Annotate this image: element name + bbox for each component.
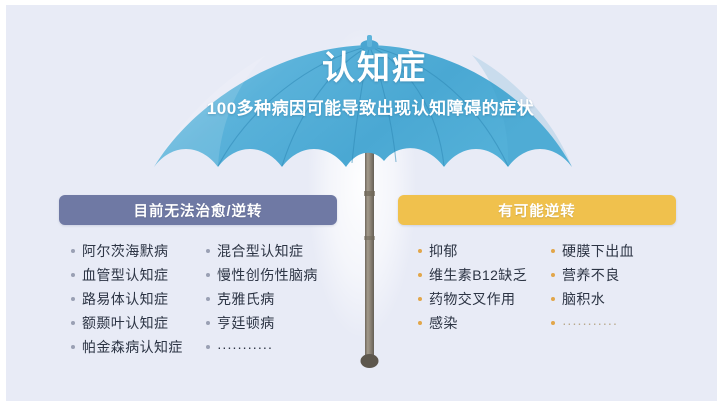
bullet-dot-icon	[418, 321, 422, 325]
list-item-label: ···········	[562, 315, 618, 331]
bullet-dot-icon	[418, 249, 422, 253]
bullet-dot-icon	[206, 345, 210, 349]
list-item-label: 路易体认知症	[82, 289, 168, 309]
list-item: 帕金森病认知症	[71, 335, 198, 359]
bullet-dot-icon	[206, 321, 210, 325]
umbrella-canopy	[154, 35, 572, 167]
list-item-ellipsis: ···········	[551, 311, 676, 335]
panel-body-irreversible: 阿尔茨海默病 血管型认知症 路易体认知症 额颞叶认知症	[59, 239, 337, 359]
panel-irreversible: 目前无法治愈/逆转 阿尔茨海默病 血管型认知症	[59, 195, 337, 359]
bullet-dot-icon	[418, 273, 422, 277]
list-item: 亨廷顿病	[206, 311, 337, 335]
list-item-label: 额颞叶认知症	[82, 313, 168, 333]
list-item: 维生素B12缺乏	[418, 263, 537, 287]
bullet-dot-icon	[71, 249, 75, 253]
list-item-label: 营养不良	[562, 265, 620, 285]
list-item-label: 帕金森病认知症	[82, 337, 183, 357]
bullet-dot-icon	[551, 321, 555, 325]
panel-reversible: 有可能逆转 抑郁 维生素B12缺乏 药	[398, 195, 676, 335]
bullet-dot-icon	[206, 249, 210, 253]
list-item: 混合型认知症	[206, 239, 337, 263]
list-item: 硬膜下出血	[551, 239, 676, 263]
list-item-label: 硬膜下出血	[562, 241, 634, 261]
list-column-1: 阿尔茨海默病 血管型认知症 路易体认知症 额颞叶认知症	[59, 239, 198, 359]
list-item: 营养不良	[551, 263, 676, 287]
list-item: 克雅氏病	[206, 287, 337, 311]
bullet-dot-icon	[418, 297, 422, 301]
content-plate: 认知症 100多种病因可能导致出现认知障碍的症状 目前无法治愈/逆转 阿尔茨海默…	[6, 5, 717, 401]
list-column-2: 混合型认知症 慢性创伤性脑病 克雅氏病 亨廷顿病	[198, 239, 337, 359]
list-item: 脑积水	[551, 287, 676, 311]
list-item-label: 脑积水	[562, 289, 605, 309]
list-item-label: 药物交叉作用	[429, 289, 515, 309]
list-item-label: 克雅氏病	[217, 289, 275, 309]
panel-header-label: 有可能逆转	[498, 200, 576, 221]
list-item: 慢性创伤性脑病	[206, 263, 337, 287]
bullet-dot-icon	[206, 273, 210, 277]
list-column-2: 硬膜下出血 营养不良 脑积水 ···········	[537, 239, 676, 335]
list-item-label: 血管型认知症	[82, 265, 168, 285]
list-column-1: 抑郁 维生素B12缺乏 药物交叉作用 感染	[398, 239, 537, 335]
panel-body-reversible: 抑郁 维生素B12缺乏 药物交叉作用 感染	[398, 239, 676, 335]
list-item-label: 慢性创伤性脑病	[217, 265, 318, 285]
list-item-ellipsis: ···········	[206, 335, 337, 359]
bullet-dot-icon	[71, 321, 75, 325]
panel-header-irreversible: 目前无法治愈/逆转	[59, 195, 337, 225]
list-item: 血管型认知症	[71, 263, 198, 287]
list-item: 阿尔茨海默病	[71, 239, 198, 263]
bullet-dot-icon	[206, 297, 210, 301]
list-item-label: 维生素B12缺乏	[429, 265, 527, 285]
list-item: 药物交叉作用	[418, 287, 537, 311]
list-item-label: 阿尔茨海默病	[82, 241, 168, 261]
bullet-dot-icon	[71, 273, 75, 277]
list-item: 额颞叶认知症	[71, 311, 198, 335]
list-item-label: 混合型认知症	[217, 241, 303, 261]
list-item-label: 感染	[429, 313, 458, 333]
list-item-label: 抑郁	[429, 241, 458, 261]
bullet-dot-icon	[71, 297, 75, 301]
list-item-label: ···········	[217, 339, 273, 355]
infographic-poster: 认知症 100多种病因可能导致出现认知障碍的症状 目前无法治愈/逆转 阿尔茨海默…	[0, 0, 723, 411]
list-item: 路易体认知症	[71, 287, 198, 311]
panel-header-label: 目前无法治愈/逆转	[133, 200, 262, 221]
bullet-dot-icon	[551, 249, 555, 253]
bullet-dot-icon	[551, 297, 555, 301]
category-panels: 目前无法治愈/逆转 阿尔茨海默病 血管型认知症	[6, 195, 717, 380]
bullet-dot-icon	[71, 345, 75, 349]
list-item: 抑郁	[418, 239, 537, 263]
bullet-dot-icon	[551, 273, 555, 277]
list-item: 感染	[418, 311, 537, 335]
panel-header-reversible: 有可能逆转	[398, 195, 676, 225]
list-item-label: 亨廷顿病	[217, 313, 275, 333]
